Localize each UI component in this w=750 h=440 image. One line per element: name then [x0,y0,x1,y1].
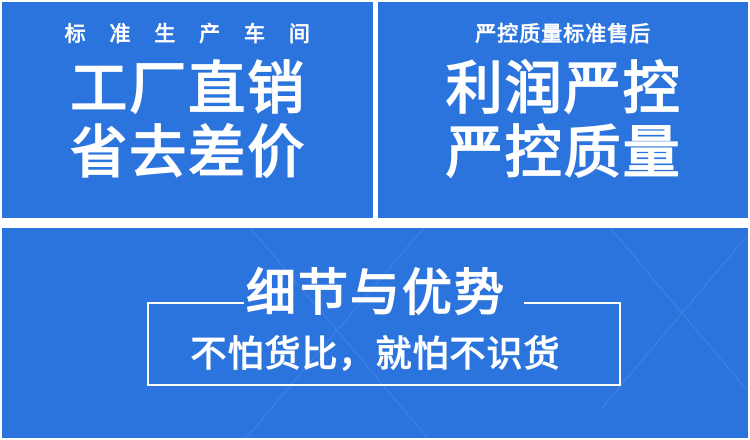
panel-factory-direct-eyebrow: 标 准 生 产 车 间 [56,24,319,45]
panel-quality-control-content: 严控质量标准售后 利润严控 严控质量 [378,2,749,218]
panel-factory-direct-headline-line1: 工厂直销 [68,59,306,121]
panel-quality-control: 严控质量标准售后 利润严控 严控质量 [378,2,749,218]
promo-banner: 标 准 生 产 车 间 工厂直销 省去差价 严控质量标准售后 利润严控 严控质量 [0,0,750,440]
panel-quality-control-eyebrow: 严控质量标准售后 [474,24,651,45]
panel-quality-control-headline-line1: 利润严控 [444,59,682,121]
panel-details-advantages-subtitle: 不怕货比，就怕不识货 [189,336,560,372]
panel-details-advantages: 细节与优势 不怕货比，就怕不识货 [2,228,748,438]
panel-quality-control-headline-line2: 严控质量 [444,123,682,185]
panel-factory-direct-content: 标 准 生 产 车 间 工厂直销 省去差价 [2,2,373,218]
panel-details-advantages-content: 细节与优势 不怕货比，就怕不识货 [2,228,748,438]
panel-factory-direct: 标 准 生 产 车 间 工厂直销 省去差价 [2,2,373,218]
panel-details-advantages-title: 细节与优势 [244,268,506,318]
bottom-panel-wrap: 细节与优势 不怕货比，就怕不识货 [2,228,748,438]
panel-factory-direct-headline-line2: 省去差价 [68,123,306,185]
top-panel-row: 标 准 生 产 车 间 工厂直销 省去差价 严控质量标准售后 利润严控 严控质量 [2,2,748,218]
